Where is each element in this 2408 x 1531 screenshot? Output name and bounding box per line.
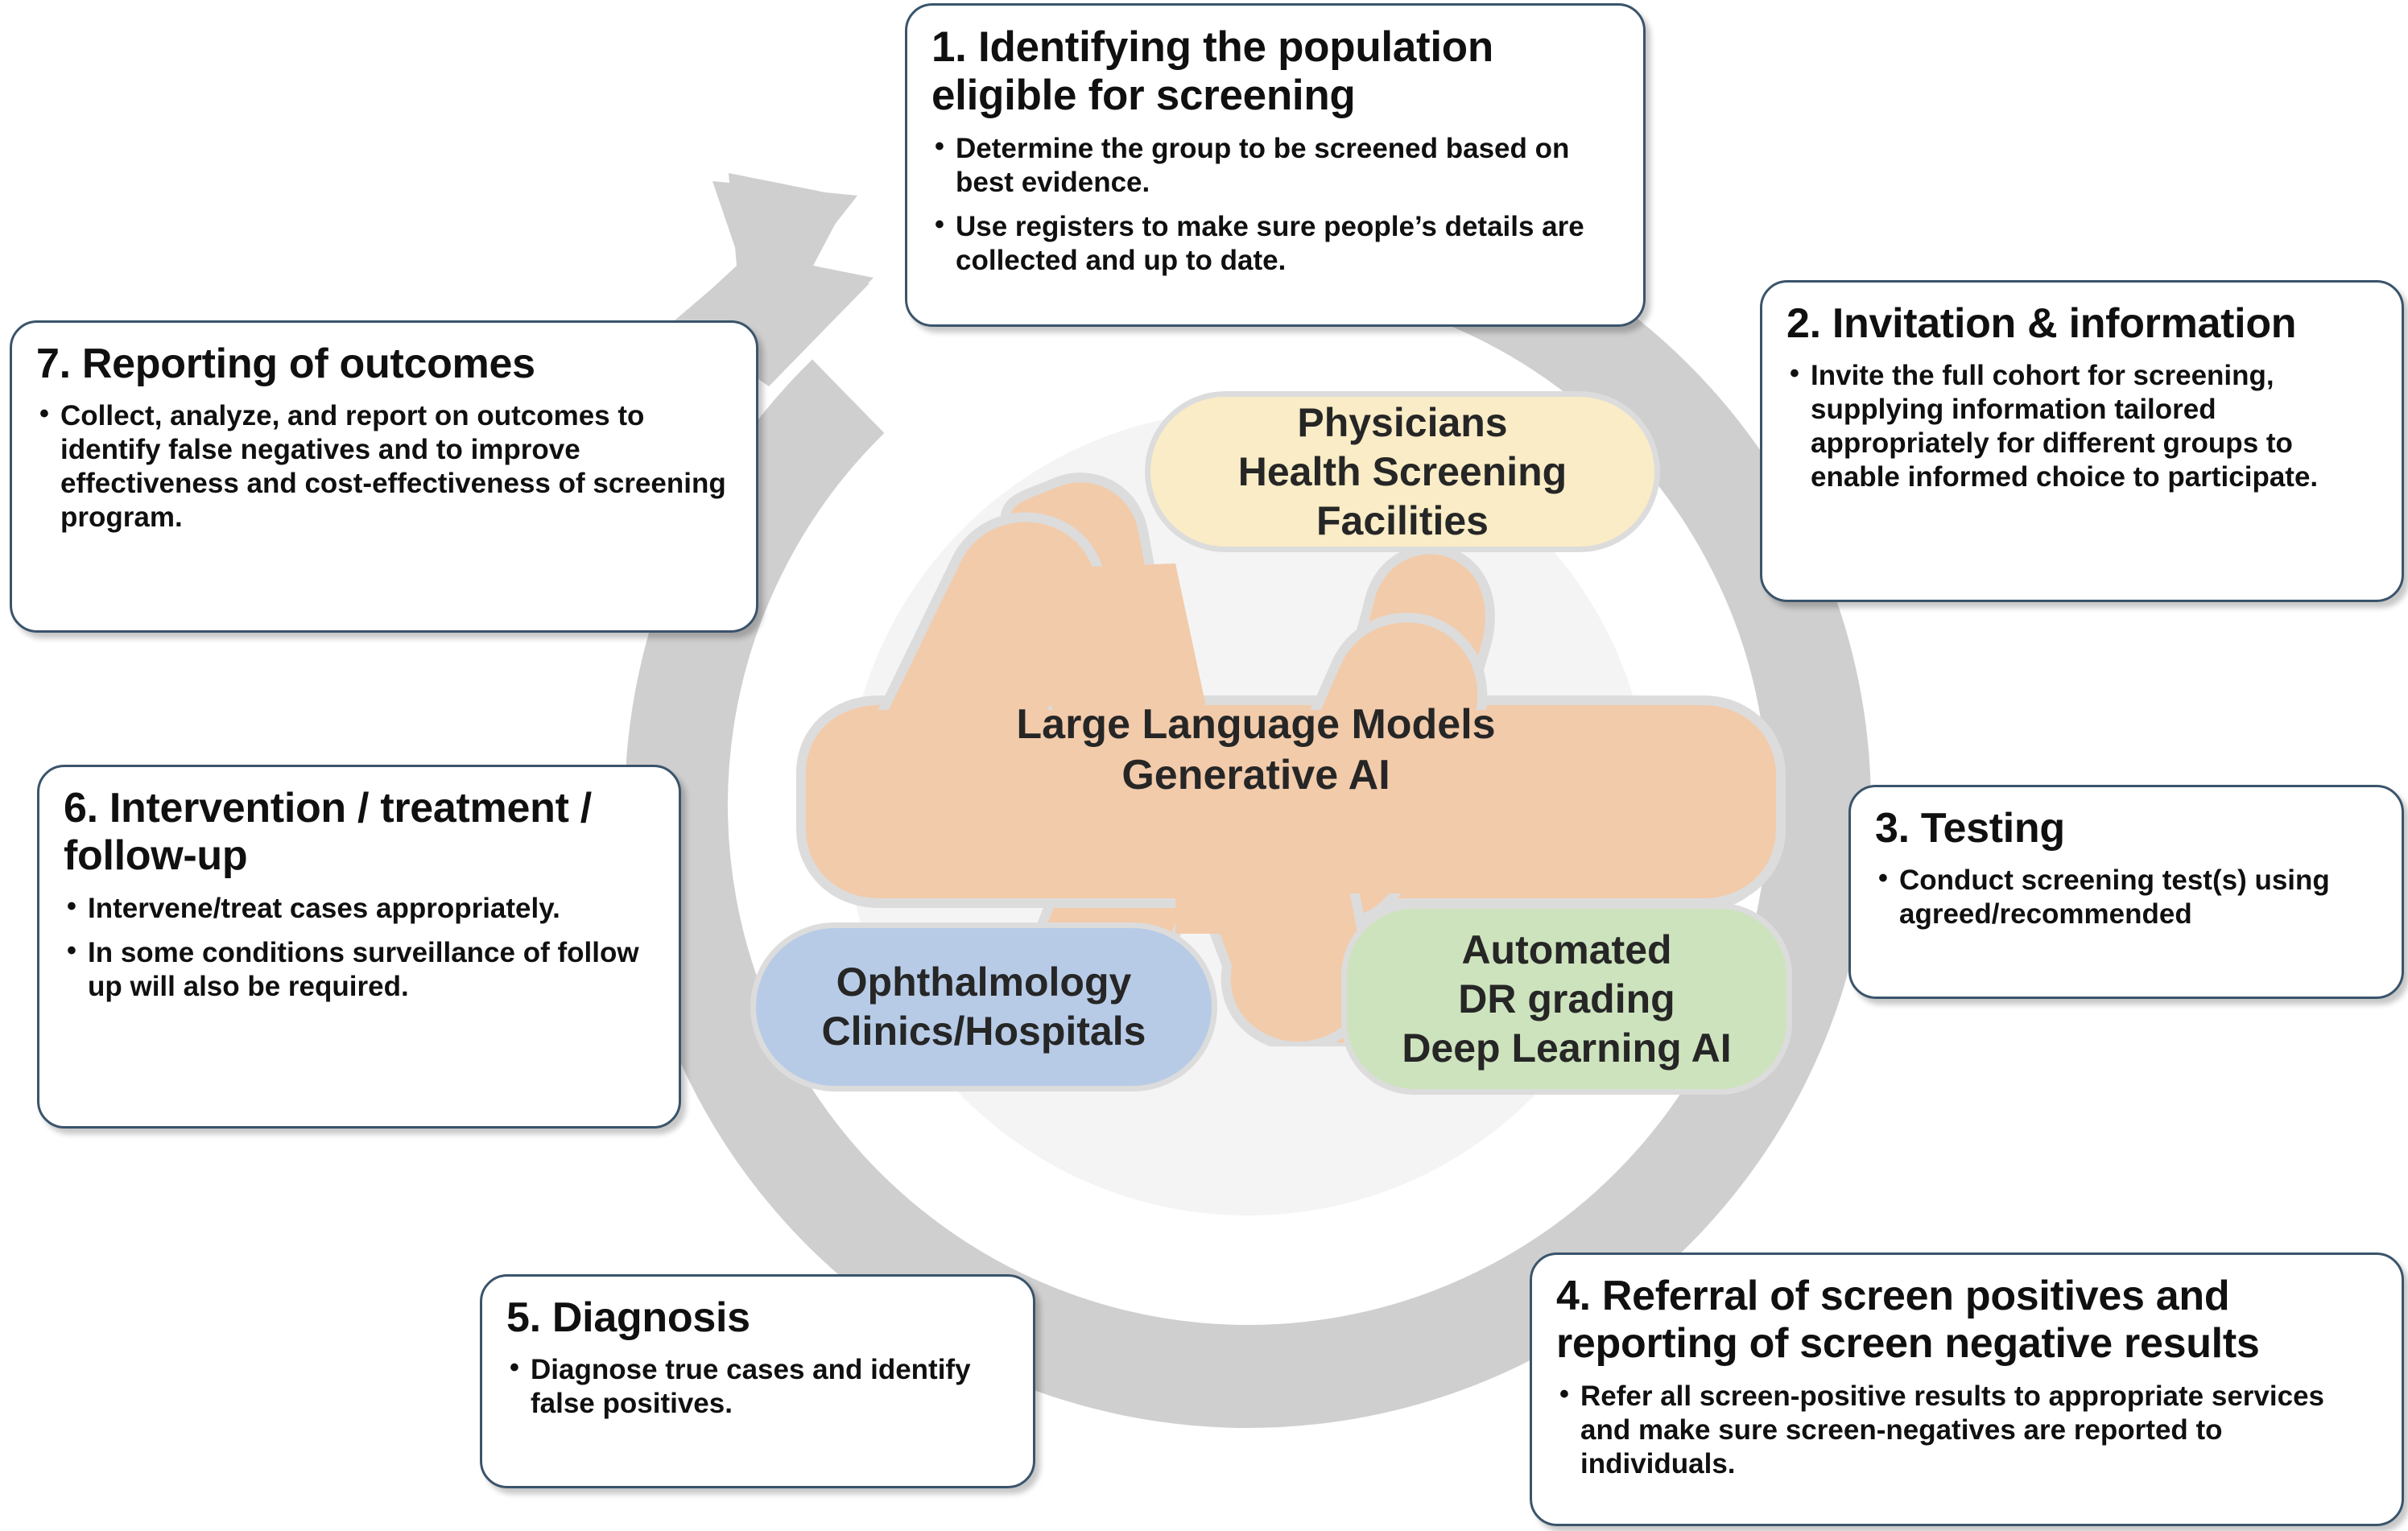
- step-2-title: 2. Invitation & information: [1786, 300, 2381, 348]
- step-3-bullets: Conduct screening test(s) using agreed/r…: [1875, 864, 2381, 931]
- step-5-title: 5. Diagnosis: [506, 1294, 1012, 1342]
- automated-dr-grading-node: Automated DR grading Deep Learning AI: [1341, 903, 1792, 1095]
- step-4-bullets: Refer all screen-positive results to app…: [1556, 1380, 2381, 1481]
- step-1-bullets: Determine the group to be screened based…: [931, 132, 1622, 278]
- step-7-bullets: Collect, analyze, and report on outcomes…: [36, 399, 735, 534]
- step-1-title: 1. Identifying the population eligible f…: [931, 23, 1622, 121]
- step-6-bullets: Intervene/treat cases appropriately.In s…: [64, 892, 658, 1004]
- ophthalmology-clinics-node: Ophthalmology Clinics/Hospitals: [750, 922, 1217, 1092]
- bullet-item: Invite the full cohort for screening, su…: [1786, 359, 2381, 494]
- step-node-7: 7. Reporting of outcomes Collect, analyz…: [10, 320, 758, 633]
- step-5-bullets: Diagnose true cases and identify false p…: [506, 1353, 1012, 1421]
- step-node-5: 5. Diagnosis Diagnose true cases and ide…: [480, 1274, 1035, 1488]
- bullet-item: Collect, analyze, and report on outcomes…: [36, 399, 735, 534]
- step-6-title: 6. Intervention / treatment / follow-up: [64, 785, 658, 881]
- bullet-item: Refer all screen-positive results to app…: [1556, 1380, 2381, 1481]
- step-node-1: 1. Identifying the population eligible f…: [905, 3, 1646, 327]
- automated-dr-grading-label: Automated DR grading Deep Learning AI: [1402, 926, 1731, 1073]
- step-3-title: 3. Testing: [1875, 805, 2381, 852]
- step-node-3: 3. Testing Conduct screening test(s) usi…: [1848, 785, 2404, 999]
- bullet-item: Conduct screening test(s) using agreed/r…: [1875, 864, 2381, 931]
- step-node-4: 4. Referral of screen positives and repo…: [1530, 1252, 2404, 1526]
- bullet-item: Determine the group to be screened based…: [931, 132, 1622, 200]
- bullet-item: Intervene/treat cases appropriately.: [64, 892, 658, 926]
- physicians-facilities-node: Physicians Health Screening Facilities: [1145, 391, 1660, 552]
- step-node-2: 2. Invitation & information Invite the f…: [1760, 280, 2404, 602]
- ophthalmology-clinics-label: Ophthalmology Clinics/Hospitals: [822, 958, 1146, 1056]
- physicians-facilities-label: Physicians Health Screening Facilities: [1238, 398, 1567, 546]
- step-node-6: 6. Intervention / treatment / follow-up …: [37, 765, 681, 1129]
- bullet-item: Diagnose true cases and identify false p…: [506, 1353, 1012, 1421]
- step-4-title: 4. Referral of screen positives and repo…: [1556, 1273, 2381, 1368]
- diagram-canvas: Large Language Models Generative AI Phys…: [0, 0, 2408, 1531]
- step-7-title: 7. Reporting of outcomes: [36, 340, 735, 388]
- bullet-item: Use registers to make sure people’s deta…: [931, 210, 1622, 278]
- bullet-item: In some conditions surveillance of follo…: [64, 936, 658, 1004]
- step-2-bullets: Invite the full cohort for screening, su…: [1786, 359, 2381, 494]
